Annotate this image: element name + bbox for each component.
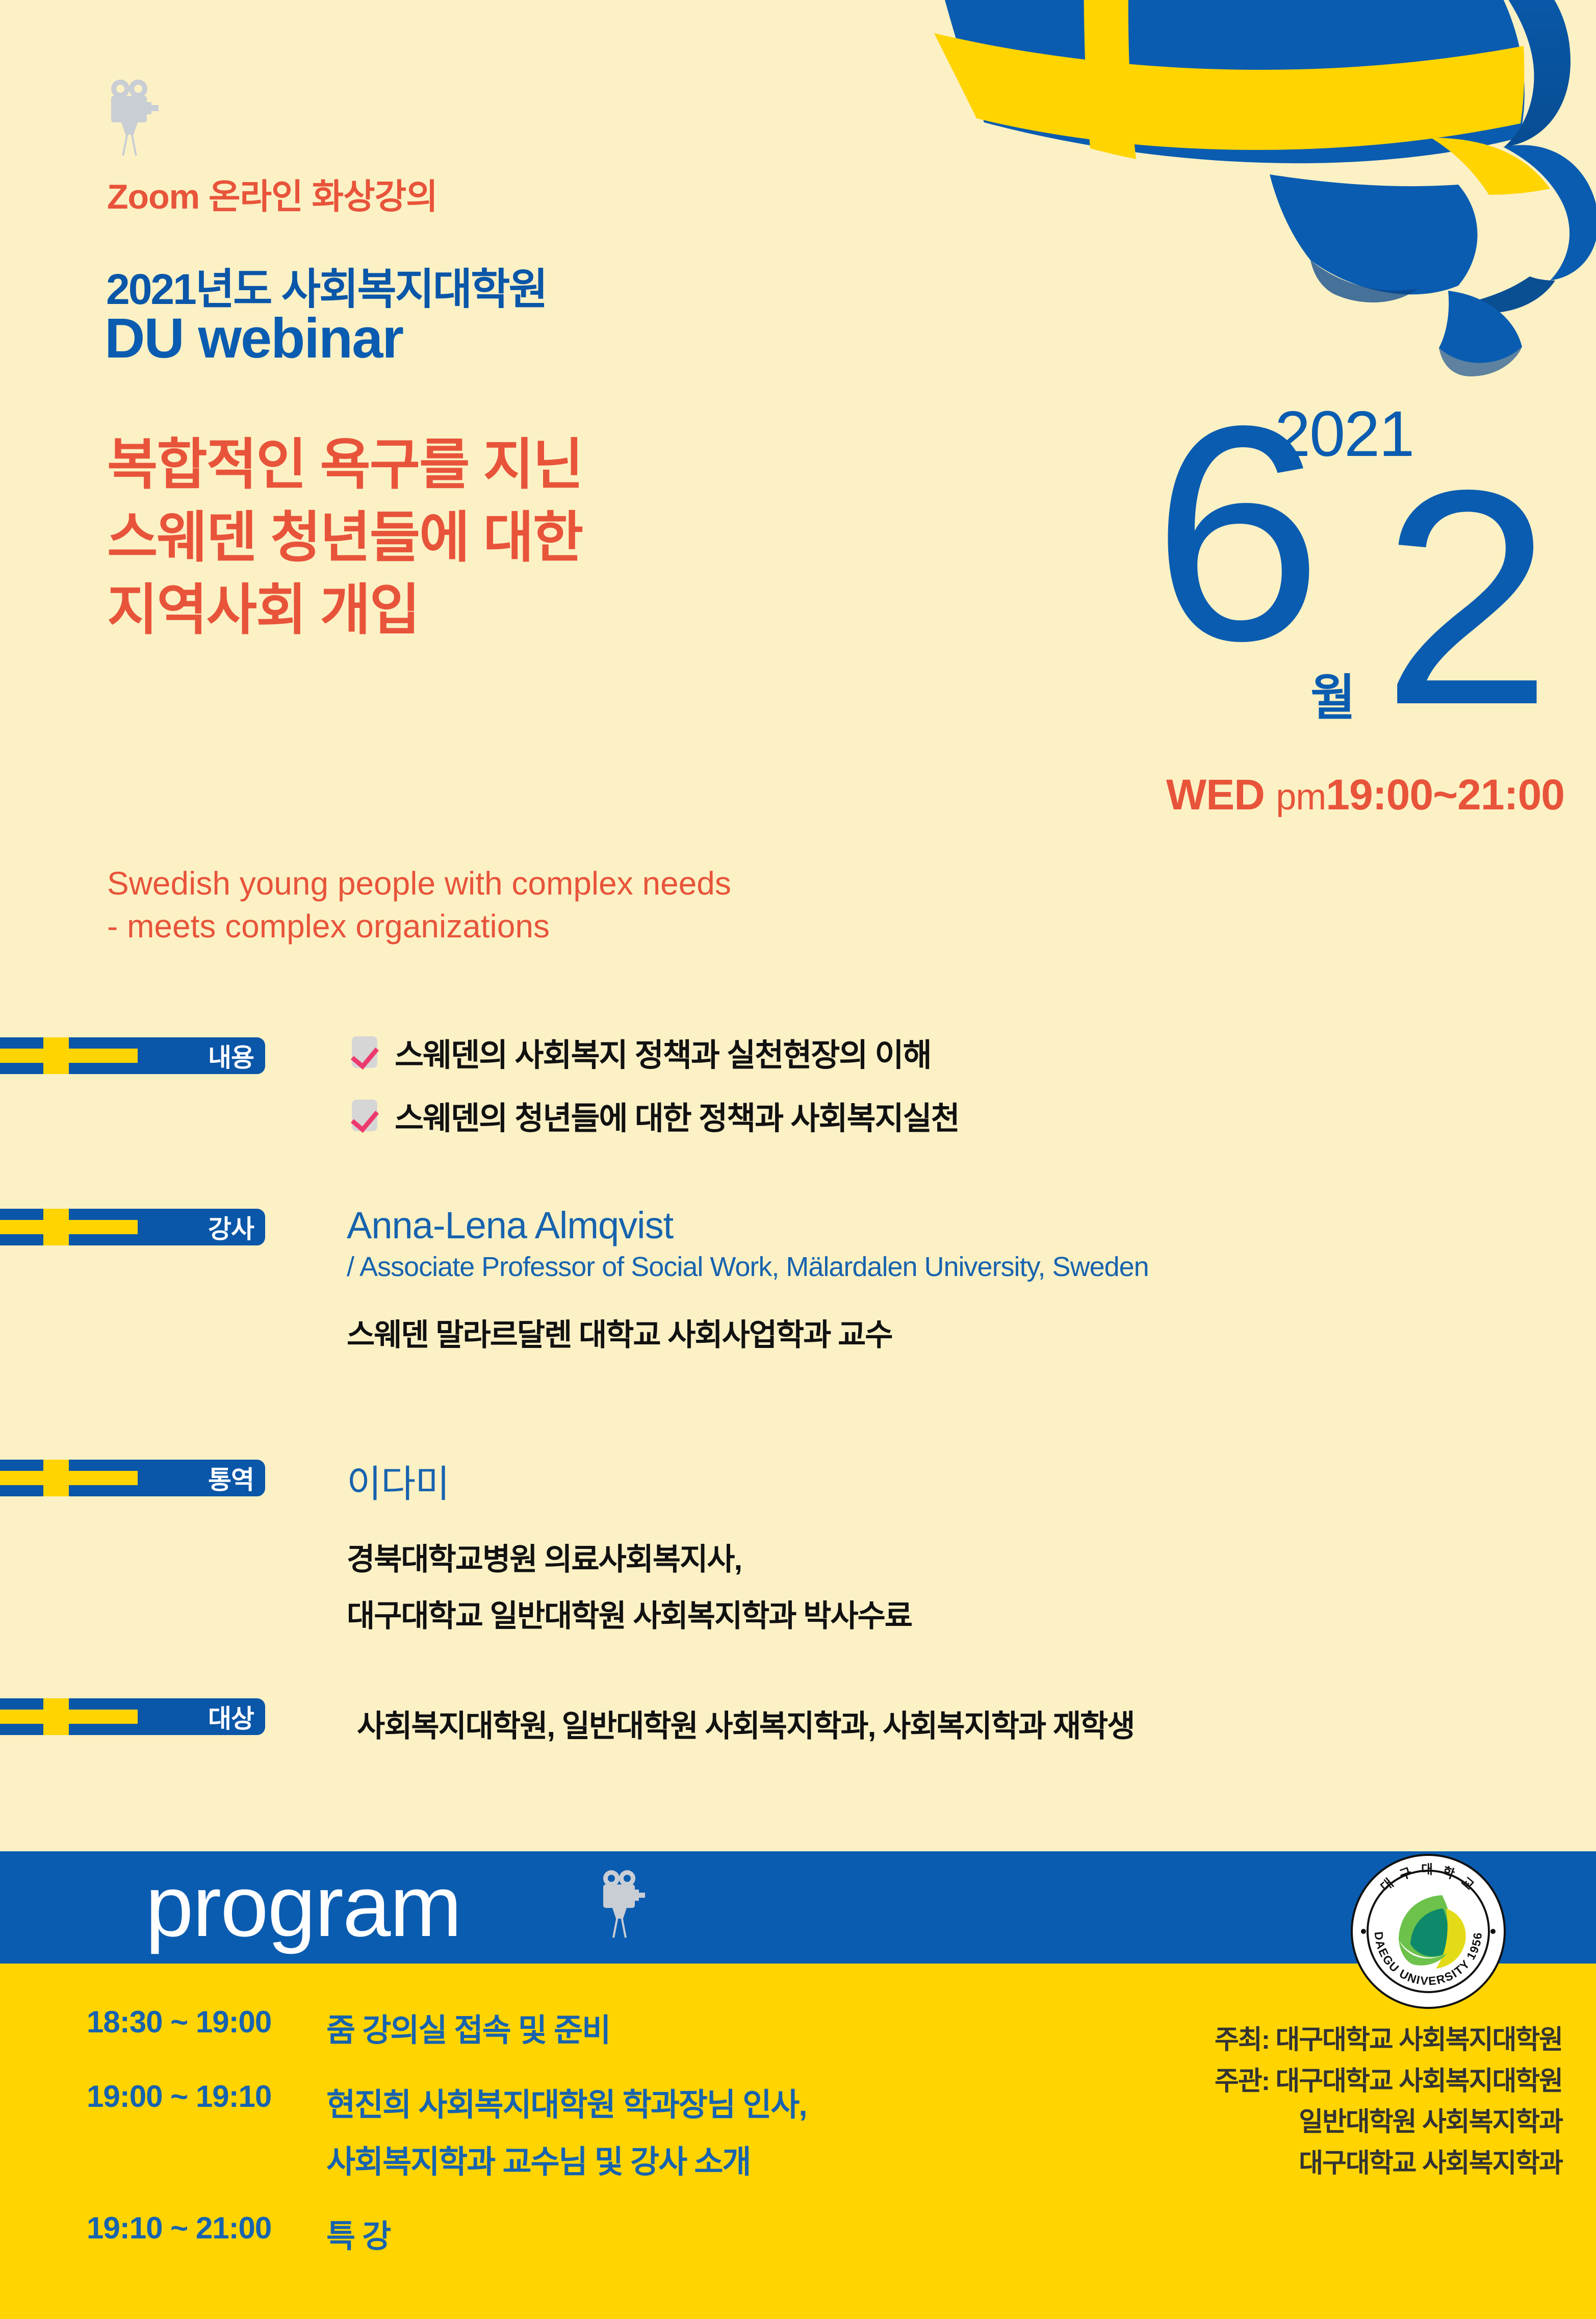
program-schedule: 18:30 ~ 19:00 줌 강의실 접속 및 준비 19:00 ~ 19:1…: [87, 2004, 807, 2285]
movie-camera-icon: [599, 1867, 648, 1938]
schedule-description: 현진희 사회복지대학원 학과장님 인사, 사회복지학과 교수님 및 강사 소개: [326, 2079, 807, 2193]
du-webinar-brand: DU webinar: [105, 306, 403, 371]
badge-flag-vertical-bar: [43, 1209, 69, 1245]
organizer-line-dept-2: 대구대학교 사회복지학과: [1215, 2143, 1562, 2184]
page-title-line-2: 스웨덴 청년들에 대한: [107, 501, 582, 574]
badge-flag-horizontal-bar: [0, 1220, 138, 1234]
program-heading: program: [145, 1856, 461, 1956]
schedule-row: 19:00 ~ 19:10 현진희 사회복지대학원 학과장님 인사, 사회복지학…: [87, 2079, 807, 2193]
badge-flag-vertical-bar: [43, 1460, 69, 1496]
organizer-line-manager: 주관: 대구대학교 사회복지대학원: [1215, 2061, 1562, 2102]
event-month-suffix: 월: [1310, 658, 1355, 729]
schedule-description-line: 줌 강의실 접속 및 준비: [326, 2004, 610, 2050]
list-item: 스웨덴의 사회복지 정책과 실천현장의 이해: [352, 1029, 959, 1075]
event-weekday: WED: [1166, 771, 1265, 819]
lecturer-name: Anna-Lena Almqvist: [347, 1204, 1149, 1247]
interpreter-name: 이다미: [347, 1454, 912, 1508]
content-item-label: 스웨덴의 청년들에 대한 정책과 사회복지실천: [395, 1092, 959, 1138]
event-time-line: WED pm19:00~21:00: [1166, 770, 1564, 820]
interpreter-affiliation-line-1: 경북대학교병원 의료사회복지사,: [347, 1535, 912, 1579]
lecturer-info: Anna-Lena Almqvist / Associate Professor…: [347, 1204, 1149, 1355]
swedish-flag-icon: [821, 0, 1596, 377]
badge-flag-horizontal-bar: [0, 1471, 138, 1485]
audience-text: 사회복지대학원, 일반대학원 사회복지학과, 사회복지학과 재학생: [357, 1701, 1134, 1746]
section-badge-interpreter: 통역: [0, 1460, 265, 1496]
interpreter-info: 이다미 경북대학교병원 의료사회복지사, 대구대학교 일반대학원 사회복지학과 …: [347, 1454, 912, 1636]
schedule-description-line: 사회복지학과 교수님 및 강사 소개: [326, 2136, 807, 2182]
movie-camera-icon: [106, 75, 162, 157]
page-title-line-1: 복합적인 욕구를 지닌: [107, 428, 582, 501]
section-badge-lecturer: 강사: [0, 1209, 265, 1245]
schedule-description-line: 현진희 사회복지대학원 학과장님 인사,: [326, 2079, 807, 2125]
lecturer-korean-affiliation: 스웨덴 말라르달렌 대학교 사회사업학과 교수: [347, 1310, 1149, 1355]
schedule-row: 18:30 ~ 19:00 줌 강의실 접속 및 준비: [87, 2004, 807, 2061]
badge-flag-vertical-bar: [43, 1037, 69, 1074]
english-subtitle: Swedish young people with complex needs …: [107, 862, 731, 948]
section-content-items: 스웨덴의 사회복지 정책과 실천현장의 이해 스웨덴의 청년들에 대한 정책과 …: [352, 1029, 959, 1156]
schedule-description-line: 특 강: [326, 2210, 390, 2256]
section-badge-audience: 대상: [0, 1698, 265, 1735]
section-badge-content: 내용: [0, 1037, 265, 1074]
event-month-number: 6: [1152, 414, 1323, 653]
section-badge-interpreter-label: 통역: [208, 1460, 254, 1496]
event-day-suffix: 일: [1593, 722, 1596, 793]
event-date-block: 2021 6 월 2 일: [1056, 388, 1565, 796]
schedule-description: 특 강: [326, 2210, 390, 2267]
zoom-online-label-text: Zoom 온라인 화상강의: [107, 177, 437, 216]
organizer-line-host: 주최: 대구대학교 사회복지대학원: [1215, 2020, 1562, 2061]
schedule-time: 19:10 ~ 21:00: [87, 2210, 326, 2267]
schedule-row: 19:10 ~ 21:00 특 강: [87, 2210, 807, 2267]
daegu-university-seal-icon: 대 구 대 학 교 DAEGU UNIVERSITY 1956: [1350, 1853, 1506, 2009]
schedule-time: 19:00 ~ 19:10: [87, 2079, 326, 2193]
checkbox-checked-icon: [352, 1036, 377, 1068]
badge-flag-horizontal-bar: [0, 1049, 138, 1063]
section-badge-audience-label: 대상: [208, 1698, 254, 1735]
english-subtitle-line-1: Swedish young people with complex needs: [107, 862, 731, 905]
event-period: pm: [1276, 777, 1326, 818]
poster-canvas: Zoom 온라인 화상강의 2021년도 사회복지대학원 DU webinar …: [0, 0, 1596, 2319]
organizer-info: 주최: 대구대학교 사회복지대학원 주관: 대구대학교 사회복지대학원 일반대학…: [1215, 2020, 1562, 2184]
section-badge-content-label: 내용: [208, 1037, 254, 1074]
interpreter-affiliation-line-2: 대구대학교 일반대학원 사회복지학과 박사수료: [347, 1591, 912, 1636]
list-item: 스웨덴의 청년들에 대한 정책과 사회복지실천: [352, 1092, 959, 1138]
english-subtitle-line-2: - meets complex organizations: [107, 905, 731, 948]
section-badge-lecturer-label: 강사: [208, 1209, 254, 1245]
event-day-number: 2: [1382, 478, 1552, 717]
content-item-label: 스웨덴의 사회복지 정책과 실천현장의 이해: [395, 1029, 931, 1075]
audience-info: 사회복지대학원, 일반대학원 사회복지학과, 사회복지학과 재학생: [357, 1701, 1134, 1746]
zoom-online-label: Zoom 온라인 화상강의: [107, 168, 437, 219]
organizer-line-dept-1: 일반대학원 사회복지학과: [1215, 2102, 1562, 2143]
schedule-time: 18:30 ~ 19:00: [87, 2004, 326, 2061]
badge-flag-vertical-bar: [43, 1698, 69, 1735]
event-time-range: 19:00~21:00: [1326, 771, 1564, 819]
page-title: 복합적인 욕구를 지닌 스웨덴 청년들에 대한 지역사회 개입: [107, 428, 582, 647]
badge-flag-horizontal-bar: [0, 1710, 138, 1724]
checkbox-checked-icon: [352, 1100, 377, 1131]
lecturer-affiliation: / Associate Professor of Social Work, Mä…: [347, 1251, 1149, 1283]
schedule-description: 줌 강의실 접속 및 준비: [326, 2004, 610, 2061]
page-title-line-3: 지역사회 개입: [107, 574, 582, 647]
